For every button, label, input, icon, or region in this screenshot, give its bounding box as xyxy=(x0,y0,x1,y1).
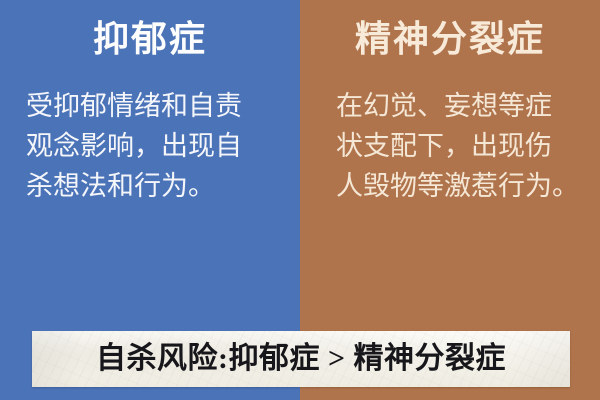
panel-depression-body: 受抑郁情绪和自责 观念影响，出现自 杀想法和行为。 xyxy=(0,86,300,206)
body-line: 在幻觉、妄想等症 xyxy=(336,86,594,126)
conclusion-banner-text: 自杀风险:抑郁症 > 精神分裂症 xyxy=(96,342,506,376)
body-line: 杀想法和行为。 xyxy=(26,166,290,206)
panel-depression-title: 抑郁症 xyxy=(0,16,300,62)
conclusion-banner: 自杀风险:抑郁症 > 精神分裂症 xyxy=(32,331,570,387)
panel-schizophrenia-body: 在幻觉、妄想等症 状支配下，出现伤 人毁物等激惹行为。 xyxy=(300,86,600,206)
panel-schizophrenia-title: 精神分裂症 xyxy=(300,16,600,62)
body-line: 受抑郁情绪和自责 xyxy=(26,86,290,126)
body-line: 状支配下，出现伤 xyxy=(336,126,594,166)
body-line: 观念影响，出现自 xyxy=(26,126,290,166)
comparison-infographic: 抑郁症 受抑郁情绪和自责 观念影响，出现自 杀想法和行为。 精神分裂症 在幻觉、… xyxy=(0,0,600,400)
body-line: 人毁物等激惹行为。 xyxy=(336,166,594,206)
